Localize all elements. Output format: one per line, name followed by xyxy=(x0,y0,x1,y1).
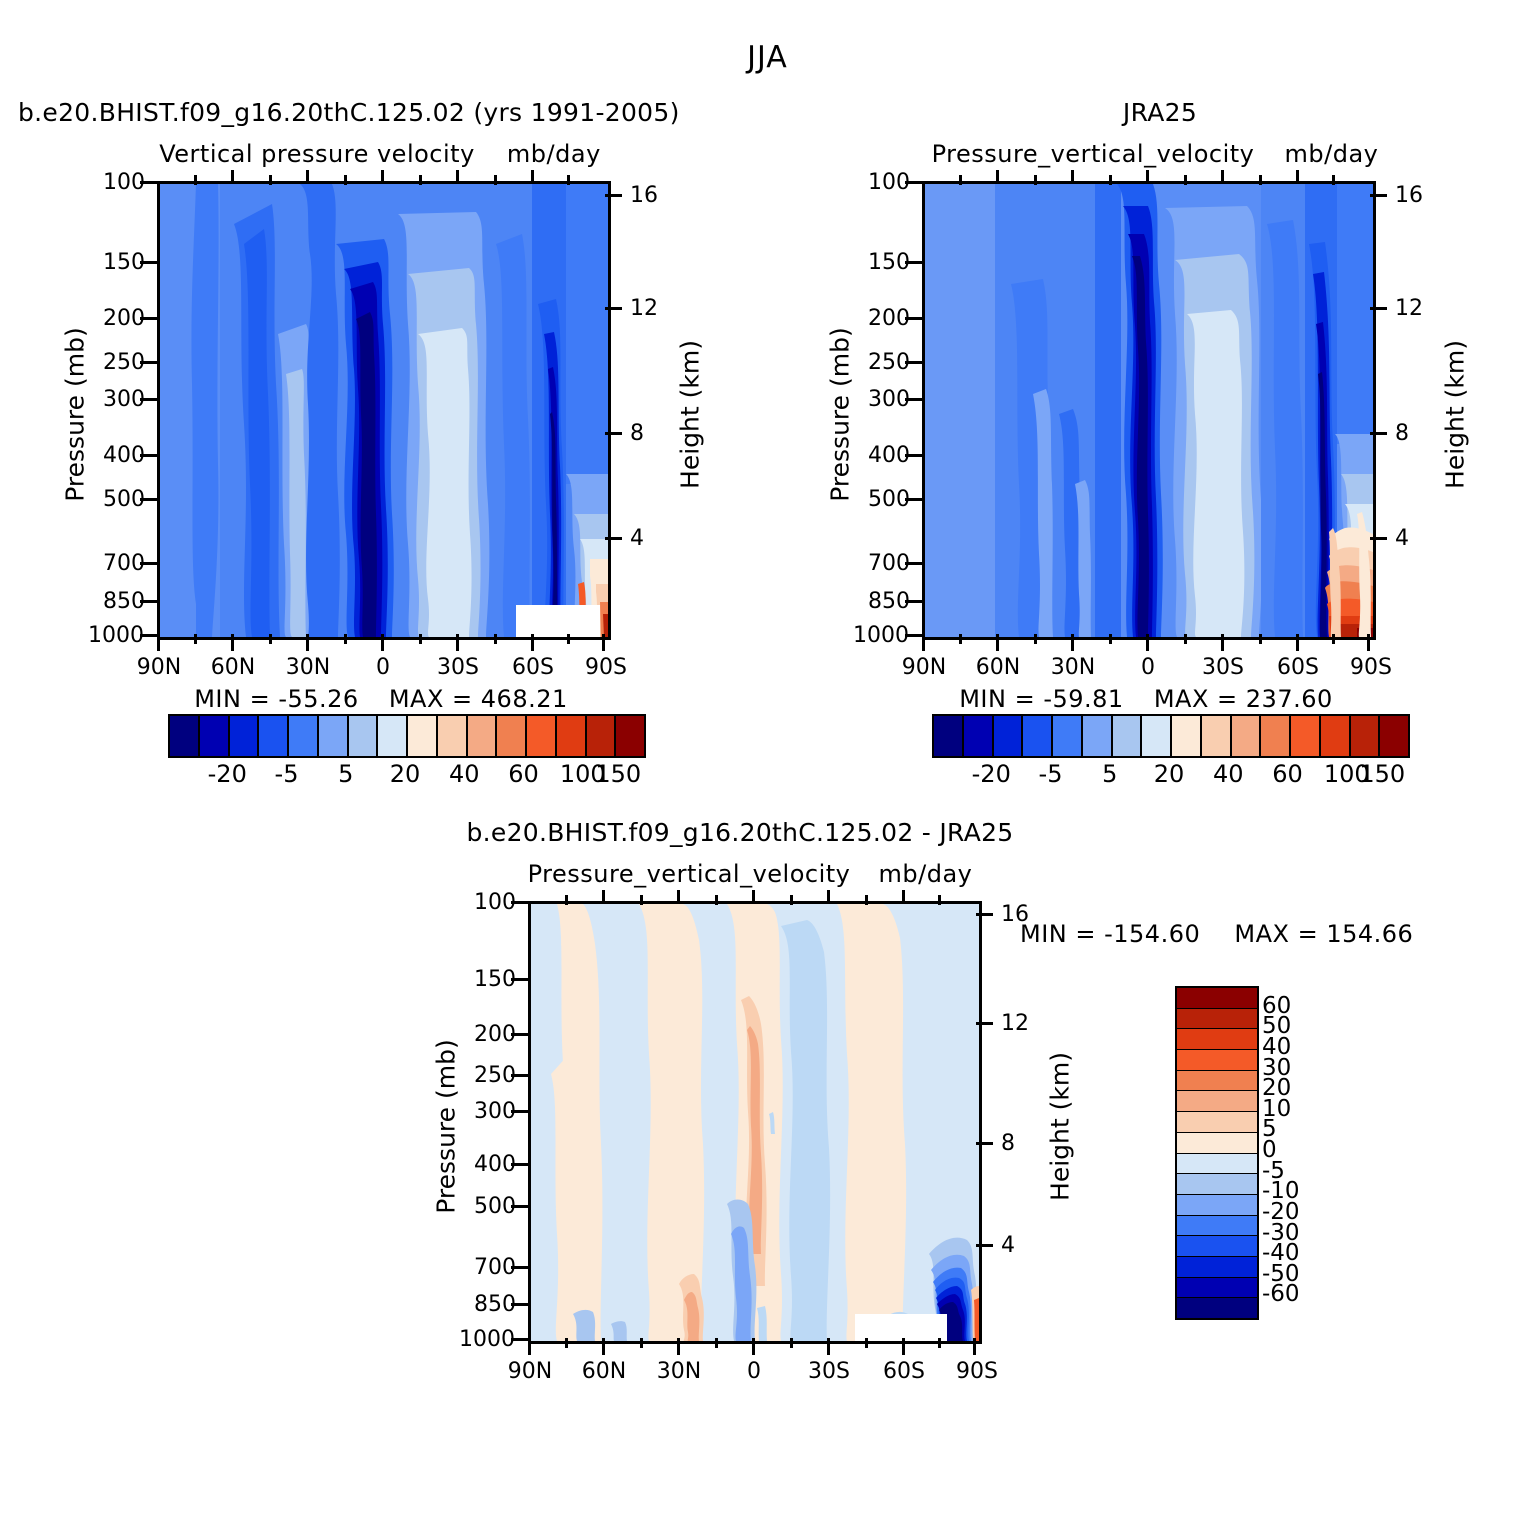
x-tick-top xyxy=(902,890,905,904)
colorbar-top-right[interactable] xyxy=(932,714,1410,758)
x-minor-tick xyxy=(865,1338,868,1348)
y-tick xyxy=(905,562,922,565)
x-minor-tick-top xyxy=(194,175,197,185)
colorbar-cell-1 xyxy=(964,716,994,756)
colorbar-cell-11 xyxy=(1177,1216,1257,1237)
colorbar-cell-3 xyxy=(1023,716,1053,756)
y-tick xyxy=(905,634,922,637)
x-minor-tick-top xyxy=(565,895,568,905)
y-tick xyxy=(511,1074,528,1077)
y-tick xyxy=(905,361,922,364)
y-tick-label: 100 xyxy=(103,170,145,195)
x-tick-top xyxy=(677,890,680,904)
y-tick-label: 150 xyxy=(103,250,145,275)
colorbar-labels-top-right: -20-55204060100150 xyxy=(932,760,1410,794)
colorbar-cell-8 xyxy=(1172,716,1202,756)
y-tick xyxy=(140,398,157,401)
panel-title-bottom: b.e20.BHIST.f09_g16.20thC.125.02 - JRA25 xyxy=(330,818,1150,847)
y2-tick-label: 4 xyxy=(630,526,644,551)
contour-field-top-left xyxy=(160,184,608,637)
minmax-top-right: MIN = -59.81 MAX = 237.60 xyxy=(922,685,1370,713)
x-tick xyxy=(306,634,309,651)
x-tick-top xyxy=(306,170,309,184)
x-tick-top xyxy=(1296,170,1299,184)
x-minor-tick xyxy=(419,634,422,644)
x-tick xyxy=(157,634,160,651)
colorbar-cell-4 xyxy=(1177,1071,1257,1092)
colorbar-cell-15 xyxy=(1177,1298,1257,1318)
y2-tick-label: 4 xyxy=(1001,1233,1015,1258)
y-tick-label: 200 xyxy=(474,1022,516,1047)
x-tick xyxy=(1367,634,1370,651)
y2-tick-label: 8 xyxy=(1001,1131,1015,1156)
y-tick-label: 400 xyxy=(103,443,145,468)
x-tick-label: 60N xyxy=(204,655,262,680)
y2-tick-label: 8 xyxy=(630,421,644,446)
colorbar-cell-8 xyxy=(1177,1154,1257,1175)
y-axis-title-top-left: Pressure (mb) xyxy=(61,305,90,525)
x-tick-label: 60N xyxy=(969,655,1027,680)
y-tick-label: 150 xyxy=(868,250,910,275)
x-tick-label: 90N xyxy=(130,655,188,680)
y-axis-title-bottom: Pressure (mb) xyxy=(432,1017,461,1237)
var-name-top-left: Vertical pressure velocity xyxy=(159,140,475,168)
missing-data-mask-top-left xyxy=(516,605,600,637)
colorbar-cell-7 xyxy=(378,716,408,756)
y2-tick xyxy=(976,1142,993,1145)
y-tick xyxy=(140,498,157,501)
x-minor-tick-top xyxy=(865,895,868,905)
colorbar-cell-0 xyxy=(934,716,964,756)
colorbar-cell-11 xyxy=(1261,716,1291,756)
y2-tick xyxy=(605,432,622,435)
y-tick-label: 500 xyxy=(868,487,910,512)
x-minor-tick xyxy=(790,1338,793,1348)
x-minor-tick xyxy=(269,634,272,644)
x-tick-top xyxy=(827,890,830,904)
plot-area-top-left xyxy=(157,181,611,640)
y-tick xyxy=(511,1338,528,1341)
y-tick xyxy=(511,1266,528,1269)
colorbar-cell-13 xyxy=(1177,1257,1257,1278)
colorbar-cell-14 xyxy=(1351,716,1381,756)
x-minor-tick-top xyxy=(1332,175,1335,185)
x-tick-label: 60N xyxy=(575,1359,633,1384)
panel-title-top-left: b.e20.BHIST.f09_g16.20thC.125.02 (yrs 19… xyxy=(18,98,680,127)
y2-tick-label: 16 xyxy=(1395,183,1423,208)
max-label-top-left: MAX = 468.21 xyxy=(389,685,568,713)
min-label-bottom: MIN = -154.60 xyxy=(1020,920,1200,948)
y-tick xyxy=(905,498,922,501)
colorbar-cell-3 xyxy=(259,716,289,756)
colorbar-cell-13 xyxy=(1321,716,1351,756)
min-label-top-left: MIN = -55.26 xyxy=(194,685,358,713)
y2-tick xyxy=(605,537,622,540)
x-minor-tick xyxy=(1034,634,1037,644)
colorbar-cell-2 xyxy=(230,716,260,756)
y-tick-label: 250 xyxy=(103,350,145,375)
colorbar-labels-top-left: -20-55204060100150 xyxy=(168,760,646,794)
x-minor-tick-top xyxy=(1034,175,1037,185)
x-tick xyxy=(528,1338,531,1355)
y2-tick xyxy=(976,1022,993,1025)
y-tick xyxy=(511,1110,528,1113)
y-tick xyxy=(511,901,528,904)
y-tick-label: 500 xyxy=(103,487,145,512)
max-label-top-right: MAX = 237.60 xyxy=(1154,685,1333,713)
x-minor-tick-top xyxy=(1109,175,1112,185)
y-tick-label: 200 xyxy=(103,306,145,331)
y2-tick xyxy=(1370,432,1387,435)
x-minor-tick-top xyxy=(494,175,497,185)
y2-tick xyxy=(1370,194,1387,197)
x-minor-tick xyxy=(959,634,962,644)
x-tick-label: 90S xyxy=(948,1359,1006,1384)
x-tick-label: 90N xyxy=(895,655,953,680)
y-tick xyxy=(511,1033,528,1036)
x-tick-top xyxy=(531,170,534,184)
y-tick-label: 150 xyxy=(474,967,516,992)
colorbar-cell-5 xyxy=(1083,716,1113,756)
y-tick xyxy=(905,454,922,457)
x-tick-top xyxy=(381,170,384,184)
max-label-bottom: MAX = 154.66 xyxy=(1234,920,1413,948)
y-tick xyxy=(905,600,922,603)
x-tick xyxy=(922,634,925,651)
colorbar-tick-label: 150 xyxy=(578,760,658,788)
x-tick-top xyxy=(456,170,459,184)
contour-field-bottom xyxy=(531,904,979,1341)
colorbar-cell-10 xyxy=(468,716,498,756)
y-tick xyxy=(511,978,528,981)
y-tick xyxy=(140,317,157,320)
x-tick xyxy=(381,634,384,651)
colorbar-cell-1 xyxy=(1177,1009,1257,1030)
min-label-top-right: MIN = -59.81 xyxy=(959,685,1123,713)
colorbar-cell-9 xyxy=(1177,1174,1257,1195)
x-tick-label: 0 xyxy=(1119,655,1177,680)
y-tick-label: 1000 xyxy=(853,623,909,648)
var-name-top-right: Pressure_vertical_velocity xyxy=(932,140,1255,168)
x-tick-top xyxy=(602,890,605,904)
y-tick-label: 700 xyxy=(103,551,145,576)
x-minor-tick xyxy=(194,634,197,644)
x-tick xyxy=(231,634,234,651)
colorbar-cell-4 xyxy=(289,716,319,756)
colorbar-cell-13 xyxy=(557,716,587,756)
x-tick xyxy=(752,1338,755,1355)
y2-tick-label: 8 xyxy=(1395,421,1409,446)
y-tick xyxy=(140,361,157,364)
x-tick xyxy=(1146,634,1149,651)
x-tick-label: 30N xyxy=(279,655,337,680)
x-minor-tick-top xyxy=(715,895,718,905)
y2-tick xyxy=(1370,307,1387,310)
x-minor-tick-top xyxy=(959,175,962,185)
colorbar-cell-5 xyxy=(1177,1091,1257,1112)
x-minor-tick xyxy=(640,1338,643,1348)
var-title-top-left: Vertical pressure velocity mb/day xyxy=(155,140,605,168)
y-tick xyxy=(511,1163,528,1166)
colorbar-cell-8 xyxy=(408,716,438,756)
colorbar-cell-10 xyxy=(1177,1195,1257,1216)
y-tick-label: 700 xyxy=(474,1255,516,1280)
colorbar-cell-6 xyxy=(1177,1112,1257,1133)
x-minor-tick-top xyxy=(269,175,272,185)
missing-data-mask-bottom xyxy=(855,1314,947,1341)
x-tick-label: 30S xyxy=(429,655,487,680)
x-minor-tick-top xyxy=(1259,175,1262,185)
x-tick-top xyxy=(1146,170,1149,184)
y2-tick xyxy=(1370,537,1387,540)
x-minor-tick-top xyxy=(419,175,422,185)
colorbar-cell-0 xyxy=(170,716,200,756)
colorbar-cell-10 xyxy=(1232,716,1262,756)
x-tick xyxy=(827,1338,830,1355)
y2-tick xyxy=(605,194,622,197)
x-tick-label: 30N xyxy=(650,1359,708,1384)
var-title-bottom: Pressure_vertical_velocity mb/day xyxy=(520,860,980,888)
colorbar-tick-label: 150 xyxy=(1342,760,1422,788)
y-tick-label: 300 xyxy=(868,387,910,412)
plot-area-top-right xyxy=(922,181,1376,640)
colorbar-difference[interactable] xyxy=(1175,986,1259,1320)
y2-tick-label: 16 xyxy=(630,183,658,208)
y2-tick xyxy=(976,1244,993,1247)
y-tick-label: 850 xyxy=(868,589,910,614)
minmax-top-left: MIN = -55.26 MAX = 468.21 xyxy=(157,685,605,713)
contour-field-top-right xyxy=(925,184,1373,637)
colorbar-cell-12 xyxy=(1291,716,1321,756)
plot-area-bottom xyxy=(528,901,982,1344)
y2-tick xyxy=(976,913,993,916)
x-tick-label: 90S xyxy=(1342,655,1400,680)
x-minor-tick xyxy=(494,634,497,644)
colorbar-cell-0 xyxy=(1177,988,1257,1009)
y2-tick-label: 12 xyxy=(1001,1011,1029,1036)
colorbar-cell-7 xyxy=(1142,716,1172,756)
colorbar-cell-7 xyxy=(1177,1133,1257,1154)
y-tick-label: 100 xyxy=(868,170,910,195)
x-tick-label: 30N xyxy=(1044,655,1102,680)
x-minor-tick xyxy=(344,634,347,644)
y-tick xyxy=(511,1205,528,1208)
x-tick-top xyxy=(1221,170,1224,184)
y2-axis-title-bottom: Height (km) xyxy=(1046,1017,1075,1237)
colorbar-cell-3 xyxy=(1177,1050,1257,1071)
x-tick-top xyxy=(1071,170,1074,184)
y-tick xyxy=(905,261,922,264)
x-minor-tick xyxy=(938,1338,941,1348)
x-tick-top xyxy=(752,890,755,904)
x-tick xyxy=(602,1338,605,1355)
colorbar-cell-15 xyxy=(1380,716,1408,756)
colorbar-cell-6 xyxy=(1113,716,1143,756)
x-minor-tick-top xyxy=(938,895,941,905)
y-tick-label: 300 xyxy=(474,1099,516,1124)
y-tick-label: 100 xyxy=(474,890,516,915)
x-minor-tick-top xyxy=(344,175,347,185)
y-tick xyxy=(511,1303,528,1306)
y-tick xyxy=(905,181,922,184)
colorbar-cell-6 xyxy=(349,716,379,756)
var-units-bottom: mb/day xyxy=(879,860,973,888)
y-tick xyxy=(140,261,157,264)
y-tick-label: 250 xyxy=(868,350,910,375)
colorbar-cell-5 xyxy=(319,716,349,756)
y-tick-label: 400 xyxy=(474,1152,516,1177)
panel-title-top-right: JRA25 xyxy=(920,98,1400,127)
y-tick xyxy=(140,181,157,184)
x-tick xyxy=(973,1338,976,1355)
x-tick-label: 30S xyxy=(1194,655,1252,680)
x-tick xyxy=(902,1338,905,1355)
y-tick-label: 300 xyxy=(103,387,145,412)
x-tick-label: 60S xyxy=(504,655,562,680)
y-tick xyxy=(905,317,922,320)
colorbar-cell-12 xyxy=(527,716,557,756)
x-tick xyxy=(456,634,459,651)
y-tick-label: 850 xyxy=(474,1292,516,1317)
colorbar-cell-11 xyxy=(497,716,527,756)
colorbar-top-left[interactable] xyxy=(168,714,646,758)
x-tick-top xyxy=(231,170,234,184)
x-minor-tick-top xyxy=(1184,175,1187,185)
x-minor-tick xyxy=(567,634,570,644)
x-tick-label: 60S xyxy=(1269,655,1327,680)
x-tick-label: 30S xyxy=(800,1359,858,1384)
x-tick-label: 0 xyxy=(354,655,412,680)
x-minor-tick xyxy=(1184,634,1187,644)
colorbar-cell-14 xyxy=(587,716,617,756)
x-tick xyxy=(996,634,999,651)
y-tick xyxy=(140,600,157,603)
y-tick-label: 1000 xyxy=(459,1327,515,1352)
colorbar-cell-9 xyxy=(1202,716,1232,756)
minmax-bottom: MIN = -154.60 MAX = 154.66 xyxy=(1020,920,1413,948)
x-tick-label: 90N xyxy=(501,1359,559,1384)
y-axis-title-top-right: Pressure (mb) xyxy=(826,305,855,525)
colorbar-cell-1 xyxy=(200,716,230,756)
x-tick-label: 90S xyxy=(577,655,635,680)
colorbar-cell-2 xyxy=(994,716,1024,756)
x-minor-tick-top xyxy=(790,895,793,905)
y2-axis-title-top-left: Height (km) xyxy=(676,305,705,525)
var-title-top-right: Pressure_vertical_velocity mb/day xyxy=(905,140,1405,168)
x-minor-tick xyxy=(1259,634,1262,644)
y-tick-label: 250 xyxy=(474,1063,516,1088)
y2-tick-label: 12 xyxy=(630,296,658,321)
y-tick-label: 200 xyxy=(868,306,910,331)
colorbar-tick-label: -60 xyxy=(1262,1281,1300,1307)
x-minor-tick xyxy=(715,1338,718,1348)
x-tick xyxy=(1296,634,1299,651)
y-tick xyxy=(140,454,157,457)
y-tick-label: 700 xyxy=(868,551,910,576)
x-tick xyxy=(531,634,534,651)
x-minor-tick xyxy=(1109,634,1112,644)
x-tick-label: 60S xyxy=(875,1359,933,1384)
colorbar-labels-difference: 60504030201050-5-10-20-30-40-50-60 xyxy=(1262,986,1372,1316)
x-minor-tick-top xyxy=(640,895,643,905)
y2-axis-title-top-right: Height (km) xyxy=(1441,305,1470,525)
x-tick xyxy=(602,634,605,651)
y-tick-label: 850 xyxy=(103,589,145,614)
colorbar-cell-12 xyxy=(1177,1236,1257,1257)
y2-tick xyxy=(605,307,622,310)
colorbar-cell-14 xyxy=(1177,1278,1257,1299)
x-tick xyxy=(1221,634,1224,651)
var-name-bottom: Pressure_vertical_velocity xyxy=(528,860,851,888)
x-minor-tick xyxy=(565,1338,568,1348)
x-minor-tick-top xyxy=(567,175,570,185)
y-tick xyxy=(905,398,922,401)
x-minor-tick xyxy=(1332,634,1335,644)
y-tick-label: 400 xyxy=(868,443,910,468)
x-tick xyxy=(1071,634,1074,651)
y2-tick-label: 12 xyxy=(1395,296,1423,321)
x-tick-label: 0 xyxy=(725,1359,783,1384)
y-tick xyxy=(140,562,157,565)
colorbar-cell-4 xyxy=(1053,716,1083,756)
y-tick-label: 500 xyxy=(474,1194,516,1219)
var-units-top-left: mb/day xyxy=(507,140,601,168)
colorbar-cell-2 xyxy=(1177,1029,1257,1050)
x-tick-top xyxy=(996,170,999,184)
y-tick xyxy=(140,634,157,637)
season-title: JJA xyxy=(0,40,1535,75)
y2-tick-label: 4 xyxy=(1395,526,1409,551)
x-tick xyxy=(677,1338,680,1355)
var-units-top-right: mb/day xyxy=(1285,140,1379,168)
y-tick-label: 1000 xyxy=(88,623,144,648)
colorbar-cell-15 xyxy=(616,716,644,756)
colorbar-cell-9 xyxy=(438,716,468,756)
